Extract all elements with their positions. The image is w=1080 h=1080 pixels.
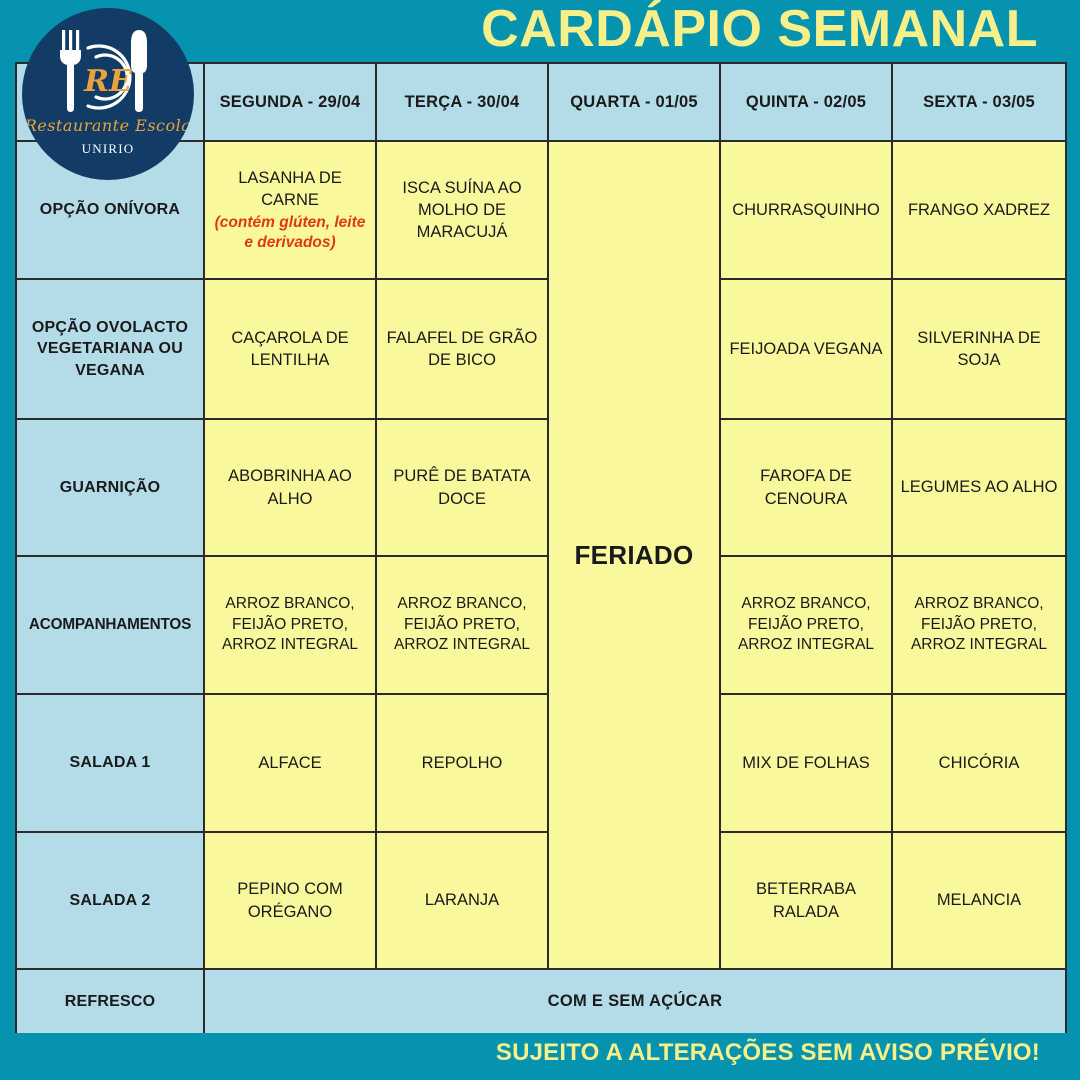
row-label-vegetariana: OPÇÃO OVOLACTO VEGETARIANA OU VEGANA: [16, 279, 204, 419]
cell-salada2-terca: LARANJA: [376, 832, 548, 969]
column-header-segunda: SEGUNDA - 29/04: [204, 63, 376, 141]
disclaimer-note: SUJEITO A ALTERAÇÕES SEM AVISO PRÉVIO!: [496, 1039, 1040, 1067]
page-title: CARDÁPIO SEMANAL: [481, 0, 1038, 60]
restaurante-escola-logo: RE Restaurante Escola UNIRIO: [22, 8, 194, 180]
weekly-menu-table: SEGUNDA - 29/04 TERÇA - 30/04 QUARTA - 0…: [15, 62, 1067, 1035]
cell-onivora-terca: ISCA SUÍNA AO MOLHO DE MARACUJÁ: [376, 141, 548, 279]
table-row-vegetariana: OPÇÃO OVOLACTO VEGETARIANA OU VEGANA CAÇ…: [16, 279, 1066, 419]
cell-salada1-quinta: MIX DE FOLHAS: [720, 694, 892, 832]
row-label-refresco: REFRESCO: [16, 969, 204, 1034]
cell-salada1-segunda: ALFACE: [204, 694, 376, 832]
cell-vegetariana-segunda: CAÇAROLA DE LENTILHA: [204, 279, 376, 419]
table-row-acompanhamentos: ACOMPANHAMENTOS ARROZ BRANCO, FEIJÃO PRE…: [16, 556, 1066, 694]
table-row-salada2: SALADA 2 PEPINO COM ORÉGANO LARANJA BETE…: [16, 832, 1066, 969]
logo-script-name: Restaurante Escola: [22, 116, 194, 135]
cell-acompanhamentos-quinta: ARROZ BRANCO, FEIJÃO PRETO, ARROZ INTEGR…: [720, 556, 892, 694]
column-header-sexta: SEXTA - 03/05: [892, 63, 1066, 141]
logo-institution: UNIRIO: [22, 141, 194, 157]
row-label-salada2: SALADA 2: [16, 832, 204, 969]
cell-vegetariana-terca: FALAFEL DE GRÃO DE BICO: [376, 279, 548, 419]
logo-monogram: RE: [22, 64, 194, 99]
cell-salada1-sexta: CHICÓRIA: [892, 694, 1066, 832]
allergen-note-onivora-segunda: (contém glúten, leite e derivados): [209, 213, 371, 253]
cell-acompanhamentos-sexta: ARROZ BRANCO, FEIJÃO PRETO, ARROZ INTEGR…: [892, 556, 1066, 694]
cell-acompanhamentos-segunda: ARROZ BRANCO, FEIJÃO PRETO, ARROZ INTEGR…: [204, 556, 376, 694]
column-header-terca: TERÇA - 30/04: [376, 63, 548, 141]
cell-onivora-quinta: CHURRASQUINHO: [720, 141, 892, 279]
cell-onivora-segunda-text: LASANHA DE CARNE: [238, 169, 342, 209]
cell-refresco-all-days: COM E SEM AÇÚCAR: [204, 969, 1066, 1034]
cell-guarnicao-terca: PURÊ DE BATATA DOCE: [376, 419, 548, 556]
row-label-acompanhamentos: ACOMPANHAMENTOS: [16, 556, 204, 694]
cell-vegetariana-quinta: FEIJOADA VEGANA: [720, 279, 892, 419]
cell-vegetariana-sexta: SILVERINHA DE SOJA: [892, 279, 1066, 419]
cell-salada1-terca: REPOLHO: [376, 694, 548, 832]
row-label-guarnicao: GUARNIÇÃO: [16, 419, 204, 556]
cell-guarnicao-segunda: ABOBRINHA AO ALHO: [204, 419, 376, 556]
cell-salada2-quinta: BETERRABA RALADA: [720, 832, 892, 969]
poster-footer: SUJEITO A ALTERAÇÕES SEM AVISO PRÉVIO!: [0, 1033, 1080, 1080]
column-header-quarta: QUARTA - 01/05: [548, 63, 720, 141]
cell-guarnicao-quinta: FAROFA DE CENOURA: [720, 419, 892, 556]
column-header-quinta: QUINTA - 02/05: [720, 63, 892, 141]
table-row-salada1: SALADA 1 ALFACE REPOLHO MIX DE FOLHAS CH…: [16, 694, 1066, 832]
cell-onivora-sexta: FRANGO XADREZ: [892, 141, 1066, 279]
cell-holiday-quarta: FERIADO: [548, 141, 720, 969]
cell-onivora-segunda: LASANHA DE CARNE (contém glúten, leite e…: [204, 141, 376, 279]
cell-acompanhamentos-terca: ARROZ BRANCO, FEIJÃO PRETO, ARROZ INTEGR…: [376, 556, 548, 694]
row-label-salada1: SALADA 1: [16, 694, 204, 832]
table-row-refresco: REFRESCO COM E SEM AÇÚCAR: [16, 969, 1066, 1034]
table-row-onivora: OPÇÃO ONÍVORA LASANHA DE CARNE (contém g…: [16, 141, 1066, 279]
table-row-guarnicao: GUARNIÇÃO ABOBRINHA AO ALHO PURÊ DE BATA…: [16, 419, 1066, 556]
cell-salada2-segunda: PEPINO COM ORÉGANO: [204, 832, 376, 969]
cell-salada2-sexta: MELANCIA: [892, 832, 1066, 969]
cell-guarnicao-sexta: LEGUMES AO ALHO: [892, 419, 1066, 556]
